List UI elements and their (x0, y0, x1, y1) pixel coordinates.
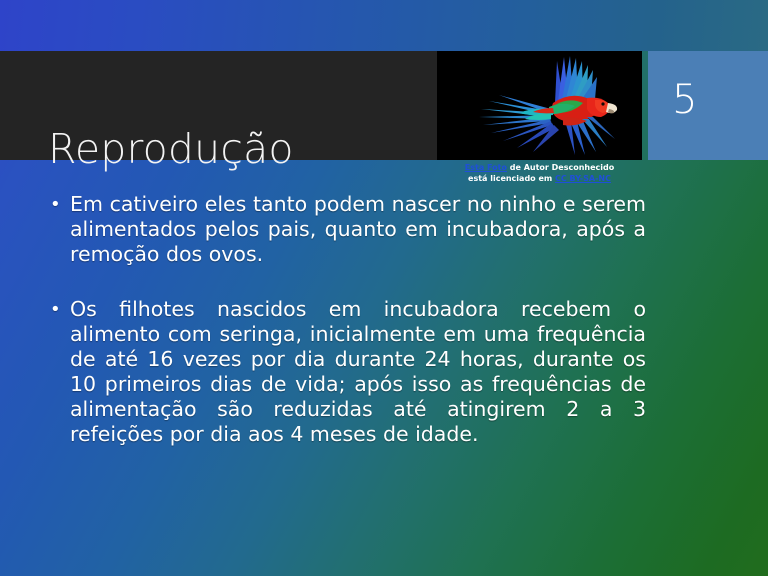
presentation-slide: Reprodução (0, 0, 768, 576)
page-title: Reprodução (48, 125, 294, 173)
bullet-text: Em cativeiro eles tanto podem nascer no … (70, 192, 646, 267)
photo-attribution: Esta Foto de Autor Desconhecido está lic… (437, 163, 642, 184)
attribution-line-1: Esta Foto de Autor Desconhecido (437, 163, 642, 174)
bullet-text: Os filhotes nascidos em incubadora receb… (70, 297, 646, 447)
attribution-license-link[interactable]: CC BY-SA-NC (555, 174, 611, 183)
list-item: Os filhotes nascidos em incubadora receb… (46, 297, 646, 447)
list-item: Em cativeiro eles tanto podem nascer no … (46, 192, 646, 267)
slide-body: Em cativeiro eles tanto podem nascer no … (46, 192, 646, 447)
attribution-license-prefix: está licenciado em (468, 174, 555, 183)
slide-number-panel: 5 (648, 51, 768, 160)
slide-number: 5 (672, 77, 697, 123)
top-accent-strip (0, 0, 768, 51)
attribution-line-2: está licenciado em CC BY-SA-NC (437, 174, 642, 185)
attribution-author-text: de Autor Desconhecido (507, 163, 614, 172)
macaw-illustration (437, 51, 642, 160)
attribution-photo-link[interactable]: Esta Foto (465, 163, 507, 172)
macaw-photo[interactable] (437, 51, 642, 160)
